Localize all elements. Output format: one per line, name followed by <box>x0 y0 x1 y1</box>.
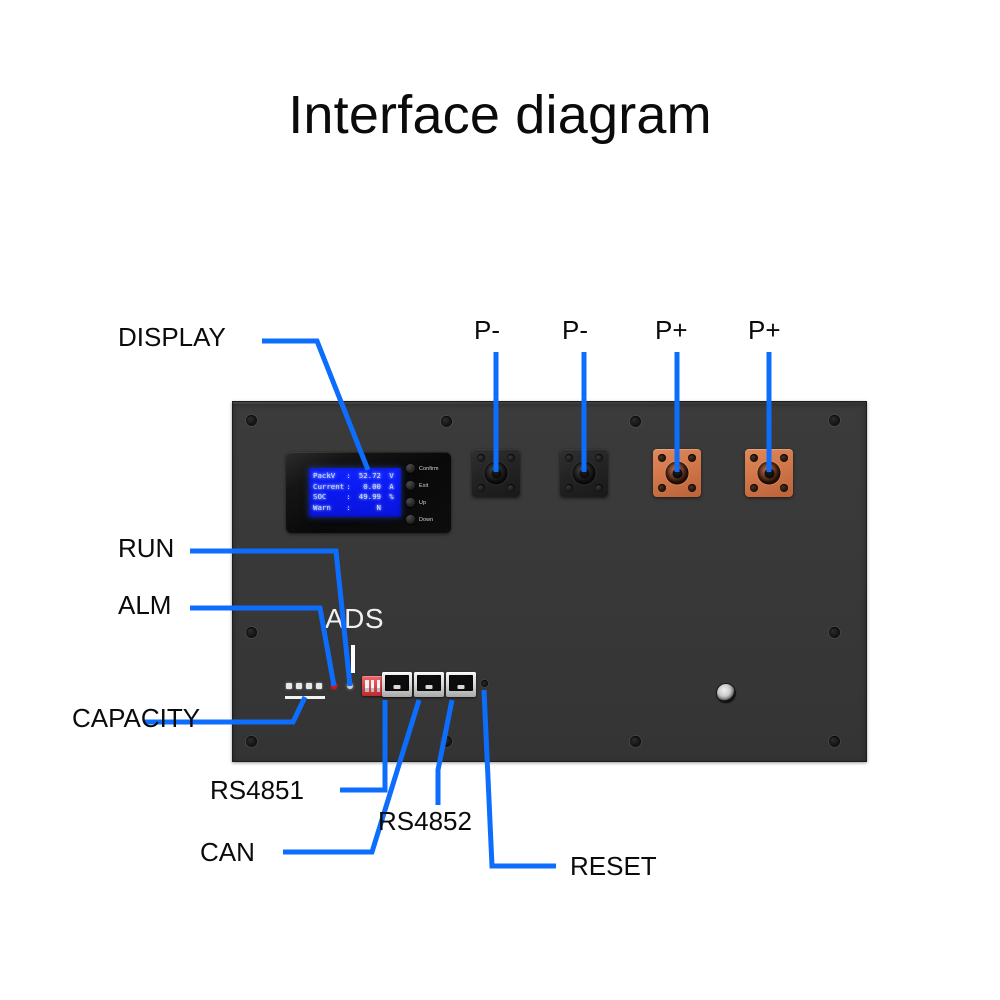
rj45-port-rs4851[interactable] <box>382 672 412 697</box>
terminal-hole <box>672 468 682 478</box>
callout-p-neg-1: P- <box>474 315 500 346</box>
run-led <box>347 683 353 689</box>
terminal-screw-icon <box>750 484 758 492</box>
lcd-button-label: Confirm <box>419 466 439 472</box>
ads-panel-label: ADS <box>325 603 384 635</box>
terminal-p-negative-2[interactable] <box>560 449 608 497</box>
terminal-screw-icon <box>595 454 603 462</box>
terminal-hole <box>579 468 589 478</box>
lcd-value: 49.99 <box>353 492 386 503</box>
rj45-tab-icon <box>457 675 466 682</box>
lcd-sep: : <box>344 482 353 493</box>
lcd-key: Warn <box>313 503 344 514</box>
lcd-display-module[interactable]: PackV : 52.72 V Current : 0.00 A SOC : 4… <box>286 452 451 533</box>
lcd-unit: V <box>386 471 397 482</box>
button-dot-icon <box>406 464 415 473</box>
terminal-hole <box>764 468 774 478</box>
rj45-notch-icon <box>426 685 433 689</box>
lcd-sep: : <box>344 503 353 514</box>
callout-run: RUN <box>118 533 174 564</box>
lcd-button-up[interactable]: Up <box>406 498 426 507</box>
capacity-led <box>286 683 292 689</box>
lcd-key: PackV <box>313 471 344 482</box>
terminal-screw-icon <box>780 454 788 462</box>
terminal-screw-icon <box>658 484 666 492</box>
rj45-opening <box>449 675 473 691</box>
reset-pinhole[interactable] <box>481 680 488 687</box>
lcd-sep: : <box>344 471 353 482</box>
mounting-screw <box>441 416 452 427</box>
terminal-screw-icon <box>688 484 696 492</box>
callout-reset: RESET <box>570 851 657 882</box>
mounting-screw <box>630 416 641 427</box>
capacity-led-group <box>286 683 322 689</box>
callout-p-neg-2: P- <box>562 315 588 346</box>
terminal-screw-icon <box>477 484 485 492</box>
terminal-screw-icon <box>565 484 573 492</box>
callout-p-pos-1: P+ <box>655 315 688 346</box>
lcd-key: Current <box>313 482 344 493</box>
terminal-screw-icon <box>688 454 696 462</box>
terminal-bore <box>573 462 596 485</box>
mounting-screw <box>829 415 840 426</box>
terminal-p-positive-1[interactable] <box>653 449 701 497</box>
rj45-tab-icon <box>393 675 402 682</box>
callout-display: DISPLAY <box>118 322 226 353</box>
rj45-port-rs4852[interactable] <box>446 672 476 697</box>
callout-capacity: CAPACITY <box>72 703 200 734</box>
lcd-value: 0.00 <box>353 482 386 493</box>
rj45-port-can[interactable] <box>414 672 444 697</box>
terminal-screw-icon <box>780 484 788 492</box>
callout-rs4852: RS4852 <box>378 806 472 837</box>
terminal-screw-icon <box>477 454 485 462</box>
terminal-bore <box>666 462 689 485</box>
terminal-bore <box>758 462 781 485</box>
terminal-screw-icon <box>507 454 515 462</box>
capacity-led <box>316 683 322 689</box>
mounting-screw <box>829 736 840 747</box>
ads-leader-stem <box>351 645 355 673</box>
button-dot-icon <box>406 481 415 490</box>
lcd-sep: : <box>344 492 353 503</box>
mounting-screw <box>246 415 257 426</box>
terminal-p-negative-1[interactable] <box>472 449 520 497</box>
mounting-screw <box>246 736 257 747</box>
terminal-hole <box>491 468 501 478</box>
capacity-led <box>306 683 312 689</box>
lcd-screen: PackV : 52.72 V Current : 0.00 A SOC : 4… <box>309 468 401 517</box>
rj45-opening <box>417 675 441 691</box>
page-title: Interface diagram <box>0 84 1000 146</box>
terminal-bore <box>485 462 508 485</box>
lcd-unit: A <box>386 482 397 493</box>
terminal-screw-icon <box>750 454 758 462</box>
capacity-underline <box>285 696 325 699</box>
callout-alm: ALM <box>118 590 171 621</box>
callout-p-pos-2: P+ <box>748 315 781 346</box>
lcd-row: Current : 0.00 A <box>313 482 397 493</box>
dip-switch-toggle[interactable] <box>377 680 381 692</box>
lcd-button-down[interactable]: Down <box>406 515 433 524</box>
terminal-p-positive-2[interactable] <box>745 449 793 497</box>
diagram-canvas: Interface diagram PackV : 52.72 V Curren… <box>0 0 1000 1000</box>
terminal-screw-icon <box>658 454 666 462</box>
mounting-screw <box>441 736 452 747</box>
dip-switch-toggle[interactable] <box>371 680 375 692</box>
button-dot-icon <box>406 498 415 507</box>
capacity-led <box>296 683 302 689</box>
button-dot-icon <box>406 515 415 524</box>
lcd-button-label: Up <box>419 500 426 506</box>
lcd-key: SOC <box>313 492 344 503</box>
lcd-value: N <box>353 503 386 514</box>
dip-switch-toggle[interactable] <box>365 680 369 692</box>
ground-screw <box>717 684 735 702</box>
mounting-screw <box>630 736 641 747</box>
terminal-screw-icon <box>507 484 515 492</box>
rj45-notch-icon <box>394 685 401 689</box>
mounting-screw <box>246 627 257 638</box>
rj45-tab-icon <box>425 675 434 682</box>
terminal-screw-icon <box>565 454 573 462</box>
lcd-button-label: Down <box>419 517 433 523</box>
lcd-button-label: Exit <box>419 483 428 489</box>
lcd-button-exit[interactable]: Exit <box>406 481 428 490</box>
mounting-screw <box>829 627 840 638</box>
lcd-value: 52.72 <box>353 471 386 482</box>
callout-can: CAN <box>200 837 255 868</box>
lcd-row: Warn : N <box>313 503 397 514</box>
lcd-unit: % <box>386 492 397 503</box>
lcd-row: SOC : 49.99 % <box>313 492 397 503</box>
alm-led <box>331 683 337 689</box>
lcd-row: PackV : 52.72 V <box>313 471 397 482</box>
lcd-button-confirm[interactable]: Confirm <box>406 464 439 473</box>
callout-rs4851: RS4851 <box>210 775 304 806</box>
rj45-notch-icon <box>458 685 465 689</box>
terminal-screw-icon <box>595 484 603 492</box>
rj45-opening <box>385 675 409 691</box>
